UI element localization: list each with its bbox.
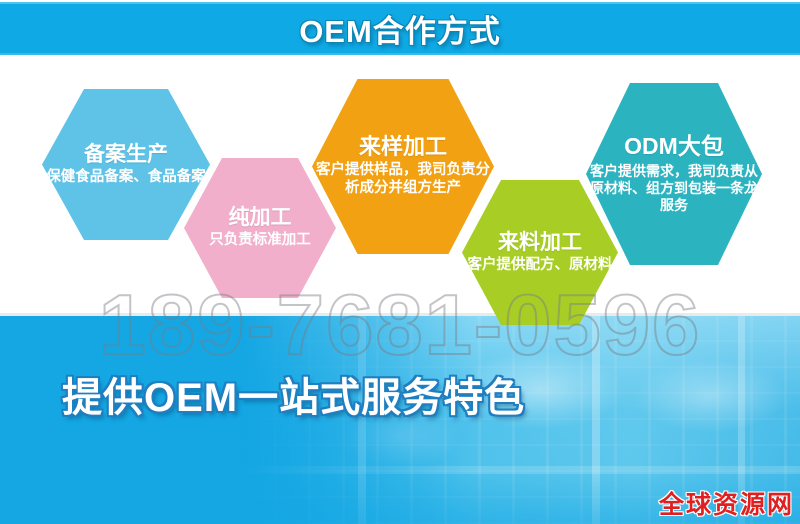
hexagon-grid: 备案生产 保健食品备案、食品备案 纯加工 只负责标准加工 来样加工 客户提供样品… [0, 55, 800, 317]
bottom-banner: 提供OEM一站式服务特色 全球资源网 [0, 313, 800, 524]
hexagon-title: 来料加工 [498, 231, 582, 254]
oem-cooperation-poster: OEM合作方式 备案生产 保健食品备案、食品备案 纯加工 只负责标准加工 来样加… [0, 0, 800, 524]
header-bar: OEM合作方式 [0, 2, 800, 55]
page-title: OEM合作方式 [299, 6, 501, 51]
hexagon-body: 只负责标准加工 [209, 232, 311, 250]
hexagon-body: 客户提供配方、原材料 [468, 257, 613, 275]
hexagon-card-lailiao-jiagong[interactable]: 来料加工 客户提供配方、原材料 [462, 180, 618, 325]
banner-title: 提供OEM一站式服务特色 [62, 365, 525, 423]
site-logo: 全球资源网 [659, 485, 794, 521]
hexagon-card-laiyang-jiagong[interactable]: 来样加工 客户提供样品，我司负责分析成分并组方生产 [312, 79, 494, 254]
hexagon-title: 纯加工 [229, 206, 292, 229]
hexagon-title: 来样加工 [359, 135, 447, 159]
hexagon-card-chun-jiagong[interactable]: 纯加工 只负责标准加工 [184, 158, 336, 298]
hexagon-body: 客户提供需求，我司负责从原材料、组方到包装一条龙服务 [586, 163, 762, 214]
hexagon-card-beian-shengchan[interactable]: 备案生产 保健食品备案、食品备案 [42, 89, 210, 240]
hexagon-card-odm-dabao[interactable]: ODM大包 客户提供需求，我司负责从原材料、组方到包装一条龙服务 [586, 83, 762, 265]
hexagon-title: 备案生产 [84, 143, 168, 166]
hexagon-body: 客户提供样品，我司负责分析成分并组方生产 [312, 162, 494, 197]
hexagon-title: ODM大包 [624, 134, 724, 159]
hexagon-body: 保健食品备案、食品备案 [46, 169, 206, 187]
